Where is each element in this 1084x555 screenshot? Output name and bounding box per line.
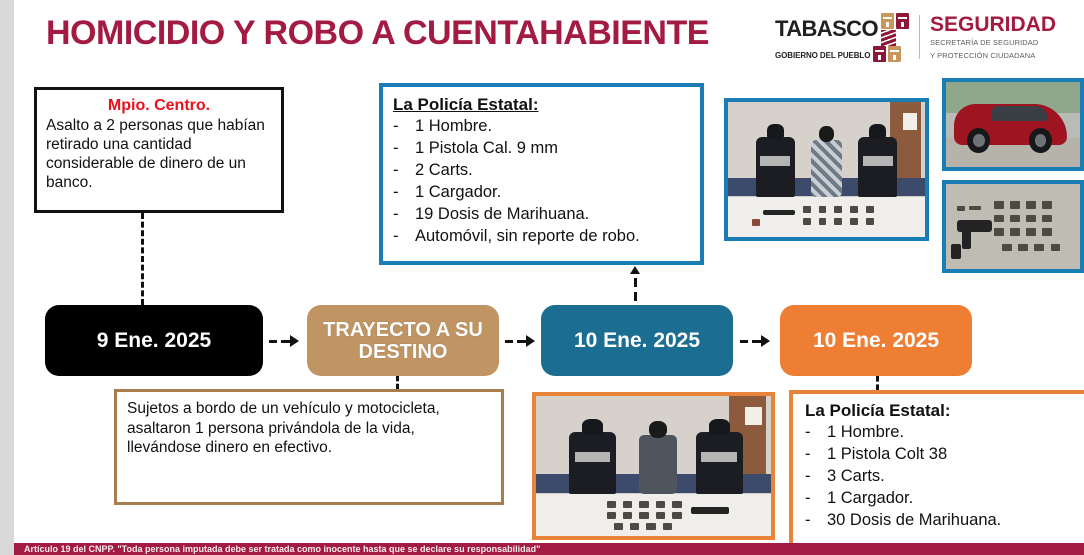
list-item-label: 1 Hombre. bbox=[827, 422, 904, 444]
list-item: -1 Cargador. bbox=[805, 488, 1075, 510]
photo-pistol-and-doses bbox=[942, 180, 1084, 273]
list-item-label: 19 Dosis de Marihuana. bbox=[415, 204, 589, 226]
bullet-dash: - bbox=[393, 204, 415, 226]
photo-detainee-with-officers-1 bbox=[724, 98, 929, 241]
arrow-black-to-tan bbox=[269, 334, 299, 348]
box-policia-orange-list: -1 Hombre. -1 Pistola Colt 38 -3 Carts. … bbox=[805, 422, 1075, 532]
bullet-dash: - bbox=[393, 160, 415, 182]
timeline-pill-trayecto[interactable]: TRAYECTO A SU DESTINO bbox=[307, 305, 499, 376]
seguridad-logo-word: SEGURIDAD bbox=[930, 14, 1056, 35]
connector-arrow-date1-to-policia-blue bbox=[630, 266, 640, 301]
tabasco-logo: TABASCO GOBIERNO DEL PUEBLO bbox=[775, 13, 909, 62]
tabasco-logo-subtitle: GOBIERNO DEL PUEBLO bbox=[775, 51, 870, 60]
connector-date2-to-policia-orange bbox=[876, 376, 879, 390]
box-policia-orange-heading: La Policía Estatal: bbox=[805, 401, 1075, 421]
list-item-label: 1 Cargador. bbox=[827, 488, 913, 510]
list-item: -1 Hombre. bbox=[805, 422, 1075, 444]
connector-mpio-to-date1 bbox=[141, 213, 144, 305]
timeline-pill-date-1[interactable]: 9 Ene. 2025 bbox=[45, 305, 263, 376]
box-policia-blue-heading: La Policía Estatal: bbox=[393, 95, 690, 115]
logo-divider bbox=[919, 15, 920, 59]
timeline-pill-date-2[interactable]: 10 Ene. 2025 bbox=[541, 305, 733, 376]
box-policia-estatal-blue: La Policía Estatal: -1 Hombre. -1 Pistol… bbox=[379, 83, 704, 265]
list-item-label: 30 Dosis de Marihuana. bbox=[827, 510, 1001, 532]
list-item-label: 2 Carts. bbox=[415, 160, 473, 182]
bullet-dash: - bbox=[805, 488, 827, 510]
slide-canvas: HOMICIDIO Y ROBO A CUENTAHABIENTE TABASC… bbox=[14, 0, 1084, 555]
tabasco-secondary-glyphs bbox=[873, 46, 901, 62]
list-item: -30 Dosis de Marihuana. bbox=[805, 510, 1075, 532]
footer-text: Artículo 19 del CNPP. "Toda persona impu… bbox=[24, 544, 540, 554]
bullet-dash: - bbox=[393, 226, 415, 248]
box-hechos: Sujetos a bordo de un vehículo y motocic… bbox=[114, 389, 504, 505]
list-item: -1 Pistola Colt 38 bbox=[805, 444, 1075, 466]
list-item: -1 Hombre. bbox=[393, 116, 690, 138]
list-item: -1 Pistola Cal. 9 mm bbox=[393, 138, 690, 160]
list-item-label: 1 Pistola Cal. 9 mm bbox=[415, 138, 558, 160]
box-mpio-centro: Mpio. Centro. Asalto a 2 personas que ha… bbox=[34, 87, 284, 213]
list-item-label: 1 Cargador. bbox=[415, 182, 501, 204]
list-item: -19 Dosis de Marihuana. bbox=[393, 204, 690, 226]
arrow-teal-to-orange bbox=[740, 334, 770, 348]
list-item-label: Automóvil, sin reporte de robo. bbox=[415, 226, 640, 248]
photo-red-suv bbox=[942, 78, 1084, 171]
logo-bar: TABASCO GOBIERNO DEL PUEBLO SEGURIDAD SE… bbox=[775, 6, 1056, 68]
timeline-pill-date-3[interactable]: 10 Ene. 2025 bbox=[780, 305, 972, 376]
list-item-label: 3 Carts. bbox=[827, 466, 885, 488]
box-mpio-body: Asalto a 2 personas que habían retirado … bbox=[46, 117, 265, 191]
connector-trayecto-to-hechos bbox=[396, 376, 399, 389]
list-item-label: 1 Hombre. bbox=[415, 116, 492, 138]
seguridad-logo-subtitle-1: SECRETARÍA DE SEGURIDAD bbox=[930, 38, 1056, 47]
bullet-dash: - bbox=[805, 510, 827, 532]
bullet-dash: - bbox=[805, 444, 827, 466]
box-policia-estatal-orange: La Policía Estatal: -1 Hombre. -1 Pistol… bbox=[789, 390, 1084, 550]
tabasco-logo-word: TABASCO bbox=[775, 18, 878, 40]
list-item: -2 Carts. bbox=[393, 160, 690, 182]
bullet-dash: - bbox=[805, 422, 827, 444]
list-item: -Automóvil, sin reporte de robo. bbox=[393, 226, 690, 248]
seguridad-logo: SEGURIDAD SECRETARÍA DE SEGURIDAD Y PROT… bbox=[930, 14, 1056, 60]
bullet-dash: - bbox=[393, 182, 415, 204]
tabasco-mask-glyphs bbox=[881, 13, 909, 46]
seguridad-logo-subtitle-2: Y PROTECCIÓN CIUDADANA bbox=[930, 51, 1056, 60]
bullet-dash: - bbox=[393, 116, 415, 138]
list-item-label: 1 Pistola Colt 38 bbox=[827, 444, 947, 466]
bullet-dash: - bbox=[393, 138, 415, 160]
arrow-tan-to-teal bbox=[505, 334, 535, 348]
list-item: -1 Cargador. bbox=[393, 182, 690, 204]
box-policia-blue-list: -1 Hombre. -1 Pistola Cal. 9 mm -2 Carts… bbox=[393, 116, 690, 248]
page-title: HOMICIDIO Y ROBO A CUENTAHABIENTE bbox=[46, 14, 709, 53]
photo-detainee-with-officers-2 bbox=[532, 392, 775, 540]
box-hechos-body: Sujetos a bordo de un vehículo y motocic… bbox=[127, 400, 440, 456]
footer-bar: Artículo 19 del CNPP. "Toda persona impu… bbox=[14, 543, 1084, 555]
bullet-dash: - bbox=[805, 466, 827, 488]
box-mpio-heading: Mpio. Centro. bbox=[46, 97, 272, 115]
list-item: -3 Carts. bbox=[805, 466, 1075, 488]
